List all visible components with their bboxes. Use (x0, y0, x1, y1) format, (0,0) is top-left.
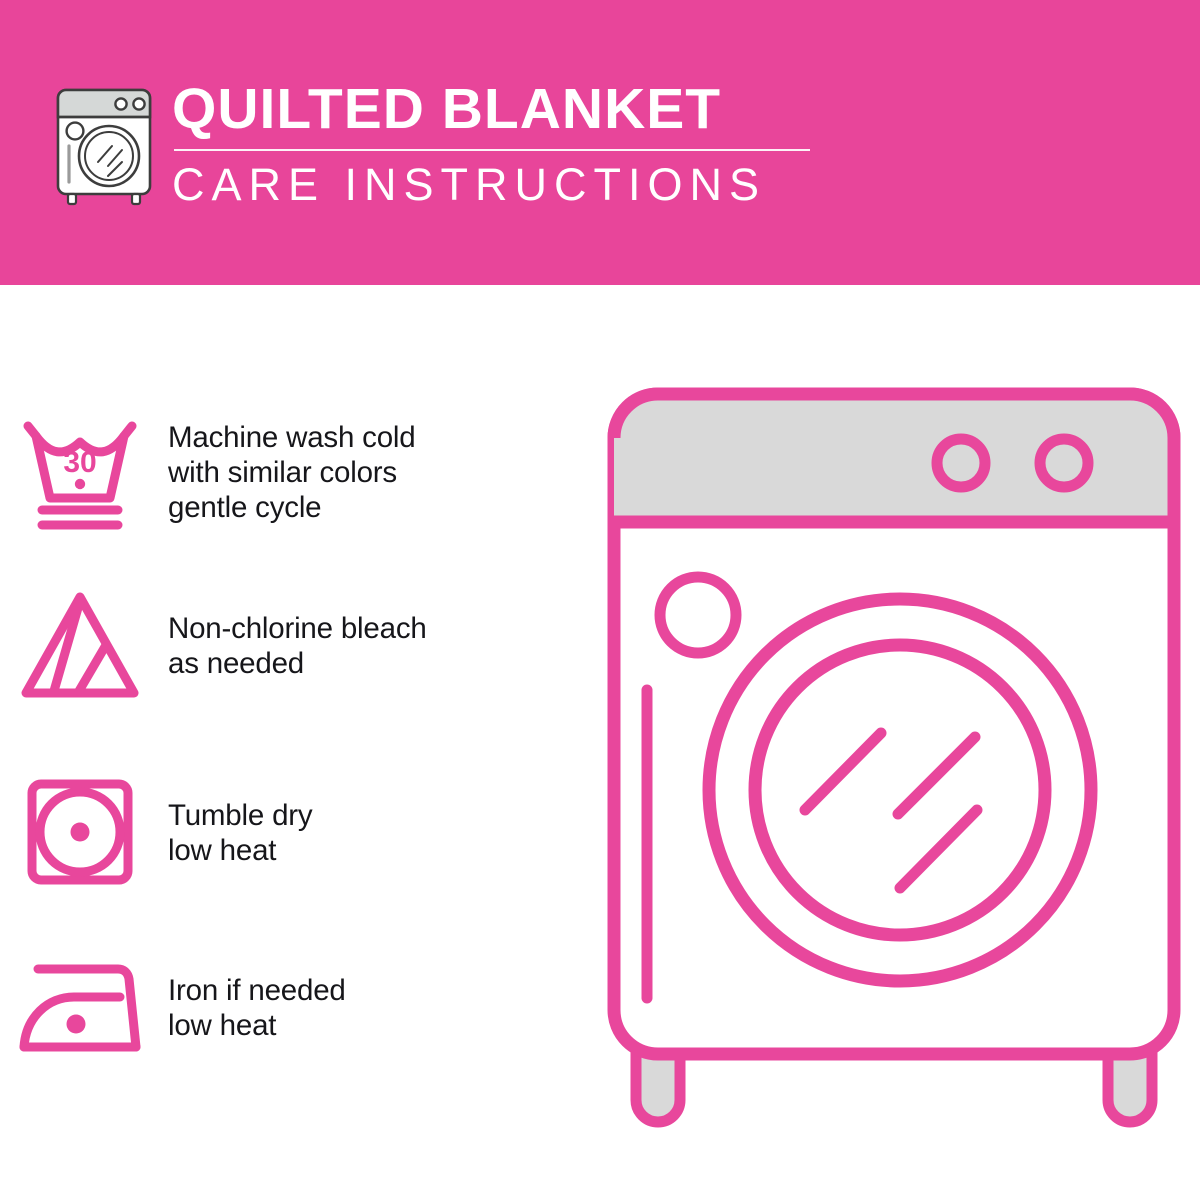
care-item: 30 Machine wash cold with similar colors… (0, 405, 580, 540)
non-chlorine-bleach-triangle-icon (0, 578, 160, 713)
care-item-label: Tumble dry low heat (160, 798, 312, 868)
care-item: Non-chlorine bleach as needed (0, 578, 580, 713)
knob-left (937, 439, 985, 487)
care-item-label: Non-chlorine bleach as needed (160, 611, 427, 681)
care-item: Iron if needed low heat (0, 940, 580, 1075)
page-header: QUILTED BLANKET CARE INSTRUCTIONS (0, 0, 1200, 285)
page-title: QUILTED BLANKET (172, 78, 852, 140)
tumble-dry-low-heat-icon (0, 765, 160, 900)
care-item-label: Machine wash cold with similar colors ge… (160, 420, 415, 525)
care-item-label: Iron if needed low heat (160, 973, 346, 1043)
wash-tub-30-gentle-icon: 30 (0, 405, 160, 540)
header-title-block: QUILTED BLANKET CARE INSTRUCTIONS (172, 78, 852, 213)
iron-low-heat-icon (0, 940, 160, 1075)
washing-machine-icon (52, 82, 156, 208)
wash-temperature-value: 30 (63, 446, 96, 479)
large-washing-machine-illustration (600, 380, 1200, 1160)
knob-right (1040, 439, 1088, 487)
care-item: Tumble dry low heat (0, 765, 580, 900)
detergent-dial (660, 577, 736, 653)
title-divider (174, 149, 810, 151)
page-subtitle: CARE INSTRUCTIONS (172, 157, 852, 213)
care-instructions-list: 30 Machine wash cold with similar colors… (0, 285, 580, 1200)
